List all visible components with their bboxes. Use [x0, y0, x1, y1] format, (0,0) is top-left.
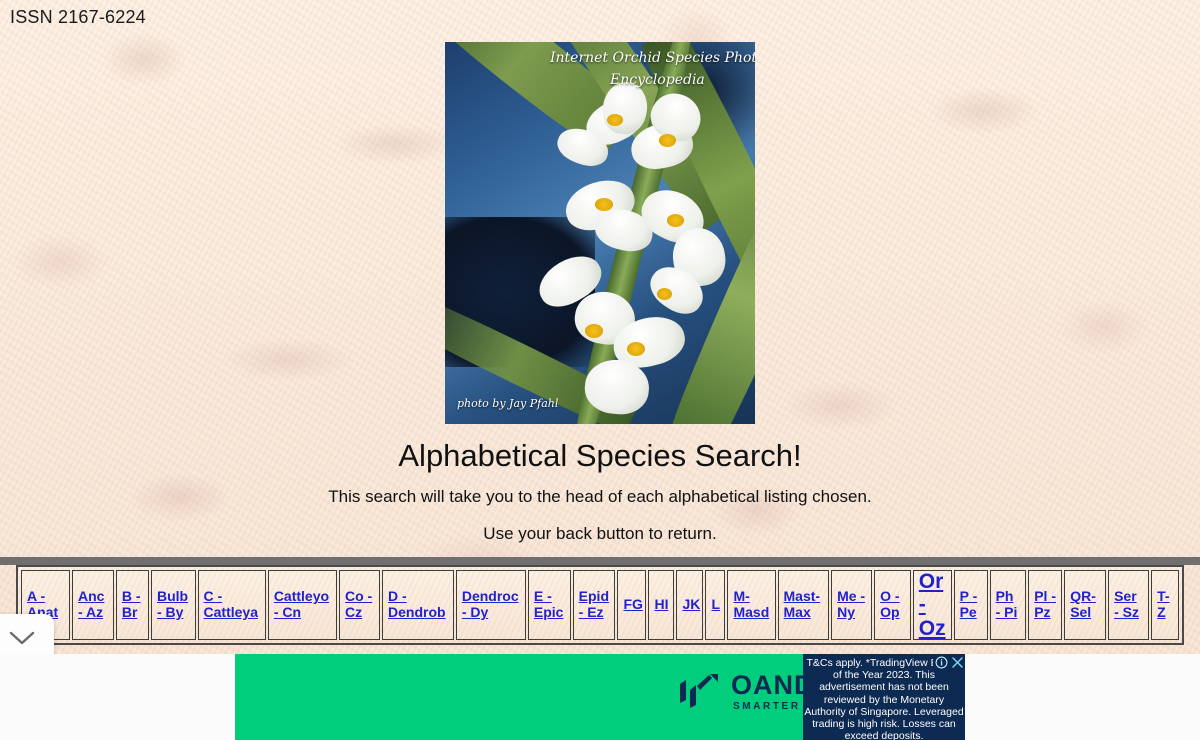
nav-cell[interactable]: JK [676, 570, 703, 640]
subtitle-line2: Use your back button to return. [0, 524, 1200, 544]
orchid-photo: Internet Orchid Species Photo Encycloped… [445, 42, 755, 424]
subtitle-line1: This search will take you to the head of… [0, 487, 1200, 507]
nav-cell[interactable]: Co - Cz [339, 570, 380, 640]
nav-link[interactable]: Mast- Max [784, 589, 824, 620]
nav-cell[interactable]: Or - Oz [913, 570, 952, 640]
nav-link[interactable]: JK [682, 597, 700, 613]
close-icon[interactable] [949, 654, 965, 670]
nav-cell[interactable]: Mast- Max [778, 570, 830, 640]
photo-lip [657, 288, 672, 300]
nav-cell[interactable]: FG [617, 570, 646, 640]
nav-link[interactable]: B - Br [122, 589, 143, 620]
photo-lip [667, 214, 684, 227]
nav-link[interactable]: T- Z [1157, 589, 1173, 620]
advertisement-banner[interactable]: OANDA SMARTER TRADING T&Cs apply. *Tradi… [235, 654, 965, 740]
photo-lip [627, 342, 645, 356]
nav-cell[interactable]: T- Z [1151, 570, 1179, 640]
nav-link[interactable]: L [711, 597, 720, 613]
nav-cell[interactable]: QR- Sel [1064, 570, 1106, 640]
nav-link[interactable]: Or - Oz [919, 570, 946, 639]
nav-cell[interactable]: M- Masd [727, 570, 775, 640]
nav-cell[interactable]: P - Pe [954, 570, 988, 640]
nav-cell[interactable]: Bulb - By [151, 570, 196, 640]
nav-cell[interactable]: Ph - Pi [990, 570, 1027, 640]
nav-link[interactable]: Me - Ny [837, 589, 866, 620]
nav-link[interactable]: Ph - Pi [996, 589, 1021, 620]
issn-text: ISSN 2167-6224 [10, 7, 146, 28]
chevron-down-icon [9, 630, 35, 646]
nav-link[interactable]: Bulb - By [157, 589, 190, 620]
nav-link[interactable]: Epid - Ez [579, 589, 610, 620]
nav-link[interactable]: P - Pe [960, 589, 982, 620]
photo-caption-line1: Internet Orchid Species Photo [550, 50, 755, 66]
alphabet-nav-table: A - AnatAnc - AzB - BrBulb - ByC - Cattl… [16, 565, 1184, 645]
nav-cell[interactable]: B - Br [116, 570, 149, 640]
nav-link[interactable]: C - Cattleya [204, 589, 260, 620]
photo-lip [659, 134, 676, 147]
nav-cell[interactable]: Ser - Sz [1108, 570, 1149, 640]
nav-link[interactable]: Anc - Az [78, 589, 108, 620]
nav-cell[interactable]: L [705, 570, 725, 640]
nav-link[interactable]: Ser - Sz [1114, 589, 1143, 620]
nav-link[interactable]: Pl - Pz [1034, 589, 1056, 620]
nav-cell[interactable]: O - Op [874, 570, 911, 640]
nav-cell[interactable]: Me - Ny [831, 570, 872, 640]
nav-link[interactable]: Dendroc - Dy [462, 589, 520, 620]
nav-cell[interactable]: Anc - Az [72, 570, 114, 640]
nav-cell[interactable]: C - Cattleya [198, 570, 266, 640]
nav-link[interactable]: M- Masd [733, 589, 769, 620]
ad-controls [933, 654, 965, 670]
page-title: Alphabetical Species Search! [0, 438, 1200, 474]
nav-cell[interactable]: Cattleyo - Cn [268, 570, 337, 640]
nav-cell[interactable]: Dendroc - Dy [456, 570, 526, 640]
nav-link[interactable]: FG [623, 597, 642, 613]
photo-lip [585, 324, 603, 338]
nav-link[interactable]: E - Epic [534, 589, 565, 620]
nav-link[interactable]: QR- Sel [1070, 589, 1100, 620]
nav-cell[interactable]: HI [648, 570, 674, 640]
nav-link[interactable]: Cattleyo - Cn [274, 589, 331, 620]
photo-caption-line2: Encyclopedia [610, 72, 705, 88]
nav-link[interactable]: O - Op [880, 589, 905, 620]
nav-link[interactable]: Co - Cz [345, 589, 374, 620]
nav-link[interactable]: D - Dendrob [388, 589, 448, 620]
oanda-mark-icon [677, 674, 723, 708]
page-background: ISSN 2167-6224 Internet Or [0, 0, 1200, 654]
photo-credit: photo by Jay Pfahl [457, 397, 558, 410]
separator-band [0, 557, 1200, 565]
photo-lip [607, 114, 623, 126]
nav-link[interactable]: HI [654, 597, 668, 613]
photo-lip [595, 198, 613, 211]
adchoices-info-icon[interactable] [933, 654, 949, 670]
nav-cell[interactable]: E - Epic [528, 570, 571, 640]
nav-cell[interactable]: Pl - Pz [1028, 570, 1062, 640]
nav-cell[interactable]: Epid - Ez [573, 570, 616, 640]
nav-cell[interactable]: D - Dendrob [382, 570, 454, 640]
